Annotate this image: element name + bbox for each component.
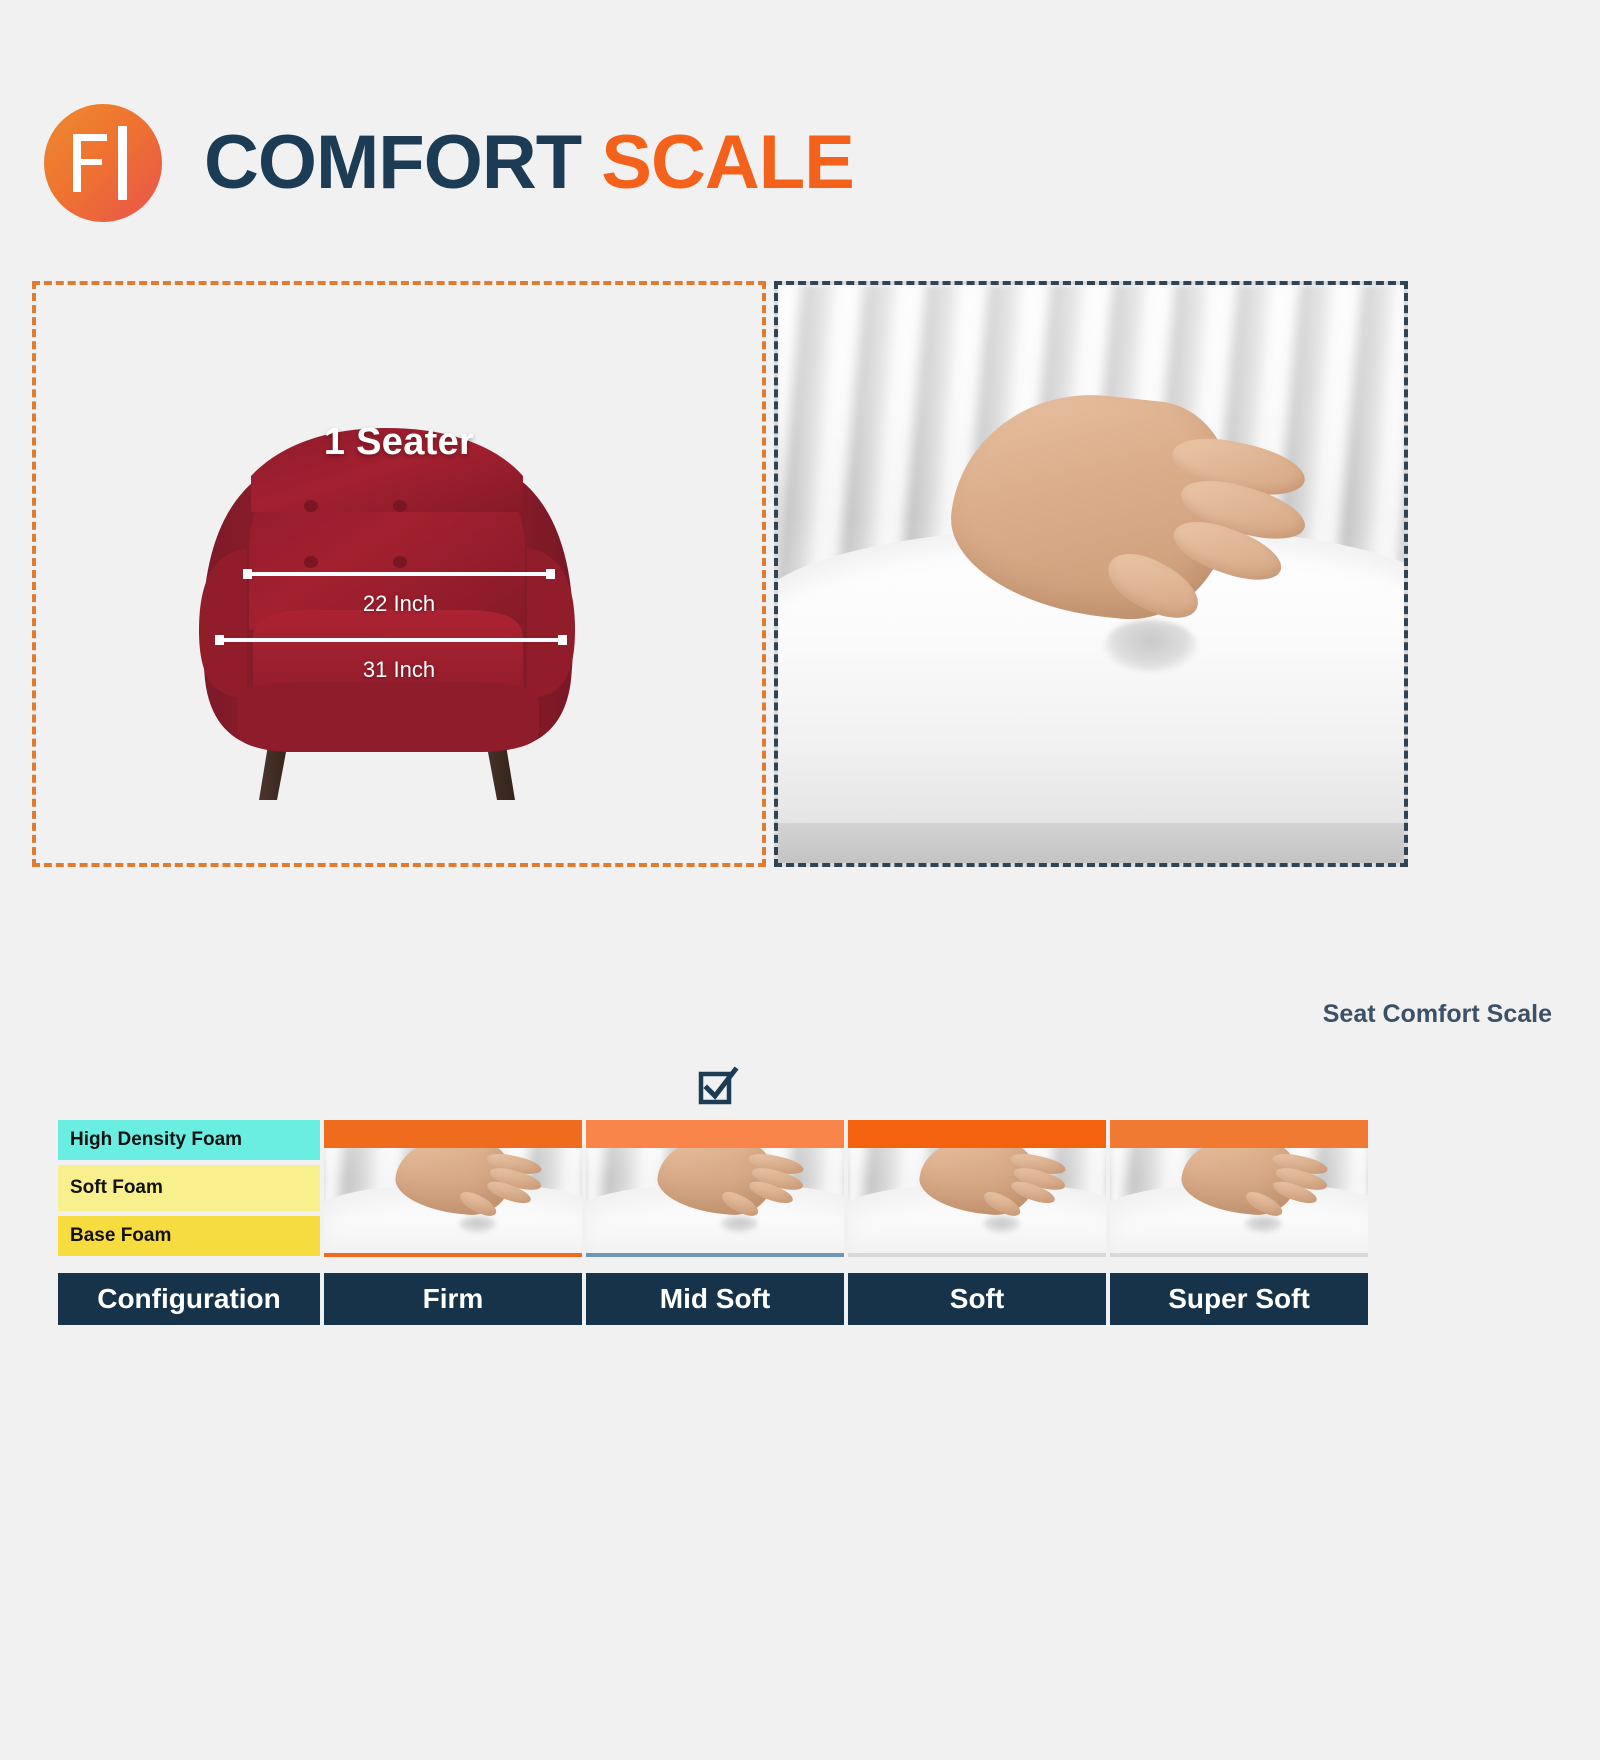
width-dimension-line xyxy=(216,638,566,642)
foam-stack-soft xyxy=(848,1120,1106,1257)
comfort-scale-table: High Density Foam Soft Foam Base Foam xyxy=(58,1120,1368,1325)
page-title: COMFORT SCALE xyxy=(204,125,854,201)
column-mid-soft[interactable] xyxy=(586,1120,844,1262)
config-cell-firm[interactable]: Firm xyxy=(324,1273,582,1325)
foam-thumb-firm xyxy=(324,1148,582,1257)
foam-bar-mid-soft xyxy=(586,1120,844,1148)
checked-checkbox-icon[interactable] xyxy=(695,1065,739,1114)
config-label-soft: Soft xyxy=(848,1273,1106,1325)
configuration-label: Configuration xyxy=(58,1273,320,1325)
config-cell-soft[interactable]: Soft xyxy=(848,1273,1106,1325)
foam-thumb-mid-soft xyxy=(586,1148,844,1257)
width-dimension-label: 31 Inch xyxy=(36,657,762,683)
configuration-row: Configuration Firm Mid Soft Soft Super S… xyxy=(58,1273,1368,1325)
title-comfort: COMFORT xyxy=(204,120,581,205)
foam-stack-mid-soft xyxy=(586,1120,844,1257)
column-super-soft[interactable] xyxy=(1110,1120,1368,1262)
foam-stack-super-soft xyxy=(1110,1120,1368,1257)
seat-comfort-scale-heading: Seat Comfort Scale xyxy=(1323,1000,1552,1029)
foam-label-base: Base Foam xyxy=(58,1216,320,1256)
foam-photo xyxy=(778,285,1404,863)
foam-label-soft: Soft Foam xyxy=(58,1165,320,1211)
chair-illustration: 1 Seater 22 Inch 31 Inch xyxy=(36,285,762,863)
config-cell-super-soft[interactable]: Super Soft xyxy=(1110,1273,1368,1325)
table-body-row: High Density Foam Soft Foam Base Foam xyxy=(58,1120,1368,1262)
foam-stack-firm xyxy=(324,1120,582,1257)
config-label-super-soft: Super Soft xyxy=(1110,1273,1368,1325)
foam-bar-soft xyxy=(848,1120,1106,1148)
column-firm[interactable] xyxy=(324,1120,582,1262)
foam-bar-firm xyxy=(324,1120,582,1148)
title-scale: SCALE xyxy=(601,120,854,205)
page-header: COMFORT SCALE xyxy=(44,104,854,222)
config-label-mid-soft: Mid Soft xyxy=(586,1273,844,1325)
foam-thumb-super-soft xyxy=(1110,1148,1368,1257)
hand-graphic xyxy=(953,395,1329,615)
seater-dimension-panel: 1 Seater 22 Inch 31 Inch xyxy=(32,281,766,867)
config-label-firm: Firm xyxy=(324,1273,582,1325)
f-monogram-logo-icon xyxy=(44,104,162,222)
foam-label-column: High Density Foam Soft Foam Base Foam xyxy=(58,1120,320,1262)
comfort-scale-page: COMFORT SCALE xyxy=(0,0,1600,1760)
seater-label: 1 Seater xyxy=(36,421,762,464)
column-soft[interactable] xyxy=(848,1120,1106,1262)
depth-dimension-label: 22 Inch xyxy=(36,591,762,617)
foam-label-high-density: High Density Foam xyxy=(58,1120,320,1160)
foam-bar-super-soft xyxy=(1110,1120,1368,1148)
config-cell-mid-soft[interactable]: Mid Soft xyxy=(586,1273,844,1325)
foam-thumb-soft xyxy=(848,1148,1106,1257)
configuration-label-cell: Configuration xyxy=(58,1273,320,1325)
foam-press-photo-panel xyxy=(774,281,1408,867)
depth-dimension-line xyxy=(244,572,554,576)
